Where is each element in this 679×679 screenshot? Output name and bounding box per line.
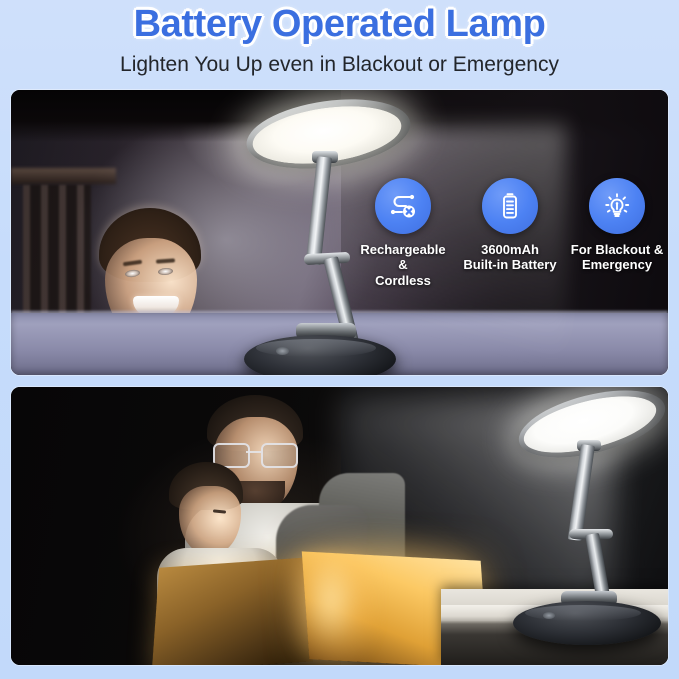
book-spine-glow bbox=[286, 552, 376, 665]
open-book bbox=[156, 552, 486, 665]
light-bulb-icon bbox=[589, 178, 645, 234]
product-infographic: Battery Operated Lamp Lighten You Up eve… bbox=[0, 0, 679, 679]
glasses-bridge bbox=[246, 451, 261, 453]
lamp-upper-arm bbox=[568, 444, 595, 541]
feature-battery-capacity: 3600mAh Built-in Battery bbox=[462, 178, 558, 273]
feature-rechargeable-cordless: Rechargeable & Cordless bbox=[355, 178, 451, 288]
feature-label: For Blackout & Emergency bbox=[569, 242, 665, 273]
lamp-power-button[interactable] bbox=[276, 347, 289, 355]
feature-label: Rechargeable & Cordless bbox=[355, 242, 451, 288]
battery-icon bbox=[482, 178, 538, 234]
lamp-base-highlight bbox=[256, 339, 376, 357]
lamp-base-highlight bbox=[525, 605, 641, 621]
feature-badge-list: Rechargeable & Cordless 3600mAh Built-in… bbox=[355, 178, 665, 288]
lamp-upper-arm bbox=[306, 156, 332, 265]
child-face bbox=[179, 486, 241, 556]
header: Battery Operated Lamp Lighten You Up eve… bbox=[0, 0, 679, 88]
top-photo-panel: Rechargeable & Cordless 3600mAh Built-in… bbox=[11, 90, 668, 375]
no-cord-icon bbox=[375, 178, 431, 234]
lamp-power-button[interactable] bbox=[543, 612, 555, 619]
bottom-photo-panel bbox=[11, 387, 668, 665]
chair-rail bbox=[11, 168, 116, 184]
page-subtitle: Lighten You Up even in Blackout or Emerg… bbox=[0, 53, 679, 77]
page-title: Battery Operated Lamp bbox=[0, 3, 679, 46]
feature-blackout-emergency: For Blackout & Emergency bbox=[569, 178, 665, 273]
feature-label: 3600mAh Built-in Battery bbox=[462, 242, 558, 273]
bottom-scene-background bbox=[11, 387, 668, 665]
desk-lamp-bottom bbox=[489, 389, 668, 634]
